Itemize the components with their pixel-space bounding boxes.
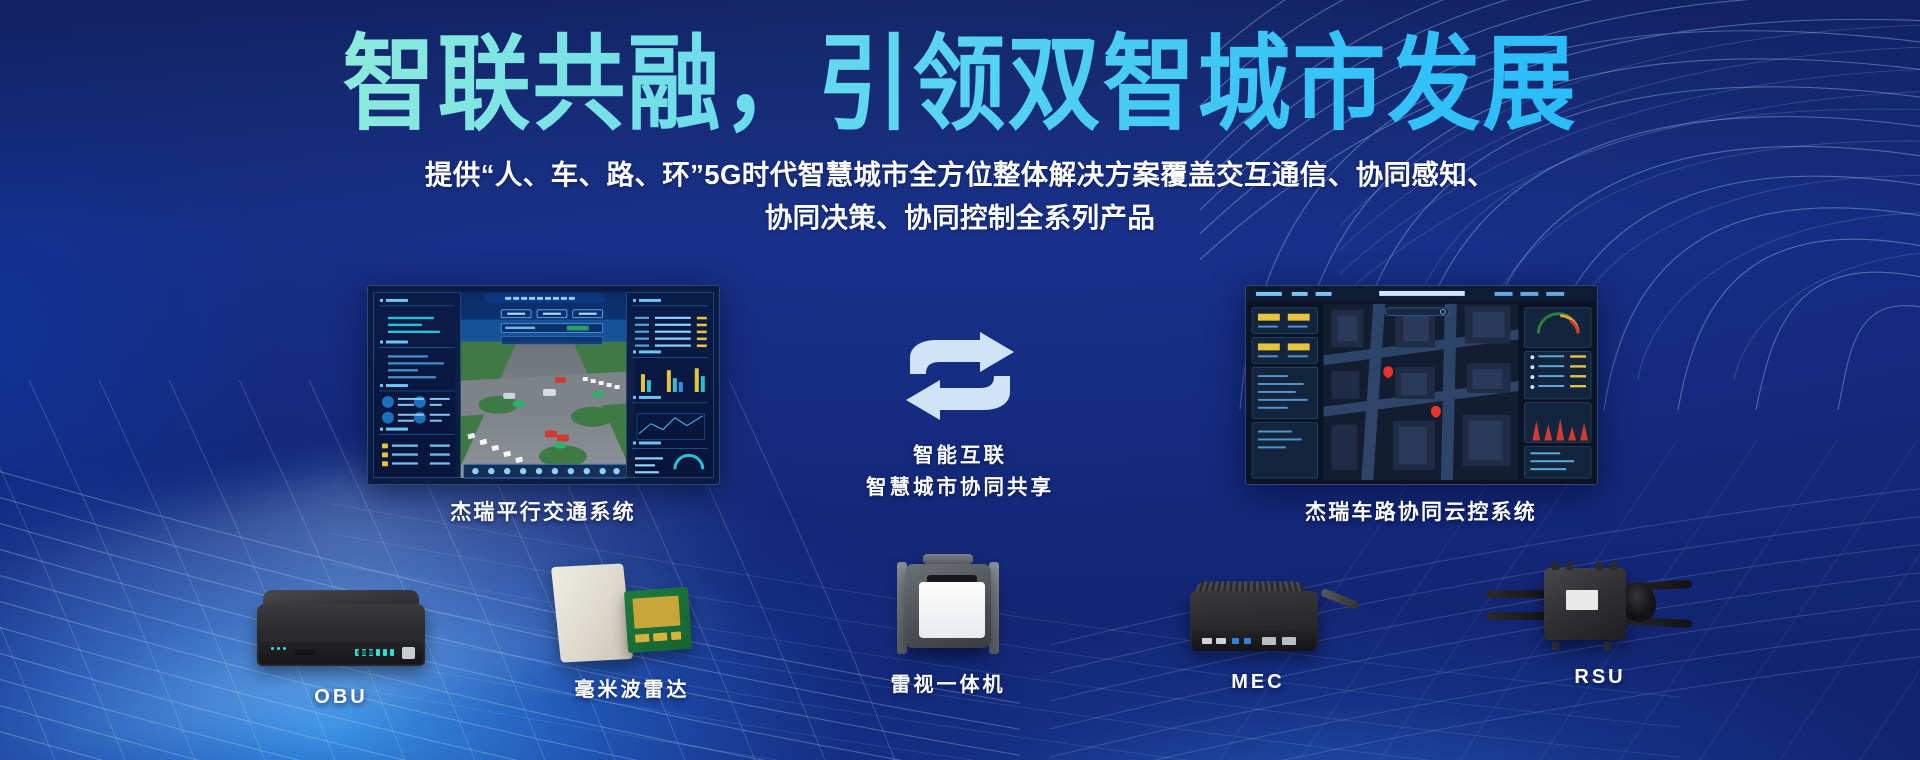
product-label-radar-camera: 雷视一体机 (838, 668, 1058, 697)
exchange-arrows-icon (896, 330, 1024, 422)
exchange-caption: 智能互联 智慧城市协同共享 (860, 440, 1060, 504)
page-title: 智联共融，引领双智城市发展 (0, 26, 1920, 143)
product-mmwave-radar[interactable]: 毫米波雷达 (522, 565, 742, 702)
caption-parallel-traffic-system: 杰瑞平行交通系统 (333, 496, 753, 526)
subtitle-line-1: 提供“人、车、路、环”5G时代智慧城市全方位整体解决方案覆盖交互通信、协同感知、 (0, 154, 1920, 197)
city-map-3d-icon (1246, 286, 1597, 484)
product-mec[interactable]: MEC (1148, 575, 1368, 694)
dashboard-art-right (1246, 286, 1597, 484)
product-radar-camera[interactable]: 雷视一体机 (838, 560, 1058, 697)
radar-camera-icon (897, 560, 999, 660)
mmwave-radar-icon (556, 565, 696, 665)
product-label-obu: OBU (231, 686, 451, 709)
product-obu[interactable]: OBU (231, 590, 451, 709)
subtitle-line-2: 协同决策、协同控制全系列产品 (0, 197, 1920, 240)
caption-cloud-control-system: 杰瑞车路协同云控系统 (1211, 496, 1631, 526)
mec-server-icon (1178, 575, 1338, 663)
page-subtitle: 提供“人、车、路、环”5G时代智慧城市全方位整体解决方案覆盖交互通信、协同感知、… (0, 154, 1920, 240)
product-rsu[interactable]: RSU (1470, 560, 1730, 689)
product-label-mmwave-radar: 毫米波雷达 (522, 673, 742, 702)
exchange-block: 智能互联 智慧城市协同共享 (860, 330, 1060, 504)
rsu-device-icon (1490, 560, 1710, 656)
screenshot-cloud-control-system[interactable] (1245, 285, 1598, 485)
obu-device-icon (257, 590, 425, 676)
screenshot-parallel-traffic-system[interactable] (367, 285, 720, 485)
dashboard-right-panel (626, 292, 714, 478)
dashboard-left-panel (373, 292, 461, 478)
product-label-mec: MEC (1148, 671, 1368, 694)
product-label-rsu: RSU (1470, 666, 1730, 689)
exchange-line-2: 智慧城市协同共享 (860, 472, 1060, 504)
dashboard-art-left (368, 286, 719, 484)
exchange-line-1: 智能互联 (860, 440, 1060, 472)
banner-stage: 智联共融，引领双智城市发展 提供“人、车、路、环”5G时代智慧城市全方位整体解决… (0, 0, 1920, 760)
